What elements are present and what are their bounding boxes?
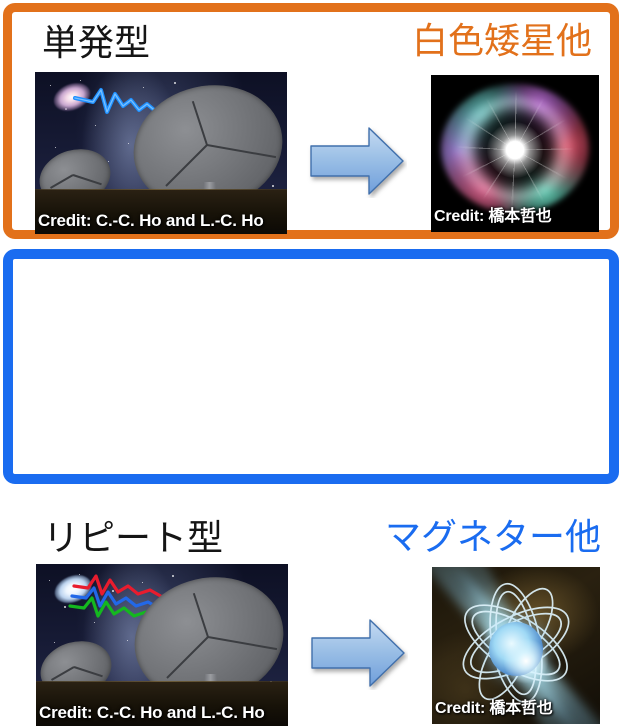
credit-text: Credit: C.-C. Ho and L.-C. Ho [38, 211, 264, 231]
magnetar-image: Credit: 橋本哲也 [432, 567, 600, 724]
radio-telescope-repeating-burst-image: Credit: C.-C. Ho and L.-C. Ho [36, 564, 288, 726]
panel-single-left-title: 単発型 [42, 26, 150, 62]
panel-repeating-burst: リピート型 マグネター他 [3, 249, 619, 484]
credit-text: Credit: C.-C. Ho and L.-C. Ho [39, 703, 265, 723]
panel-single-burst: 単発型 白色矮星他 [3, 3, 619, 239]
figure-root: 単発型 白色矮星他 [0, 0, 640, 487]
credit-text: Credit: 橋本哲也 [435, 694, 553, 718]
radio-telescope-single-burst-image: Credit: C.-C. Ho and L.-C. Ho [35, 72, 287, 234]
right-arrow-single [307, 124, 407, 198]
credit-text: Credit: 橋本哲也 [434, 202, 552, 226]
right-arrow-repeat [308, 616, 408, 690]
white-dwarf-supernova-image: Credit: 橋本哲也 [431, 75, 599, 232]
panel-single-right-title: 白色矮星他 [412, 24, 592, 60]
panel-repeat-right-title: マグネター他 [385, 520, 601, 556]
panel-repeat-left-title: リピート型 [43, 521, 223, 557]
